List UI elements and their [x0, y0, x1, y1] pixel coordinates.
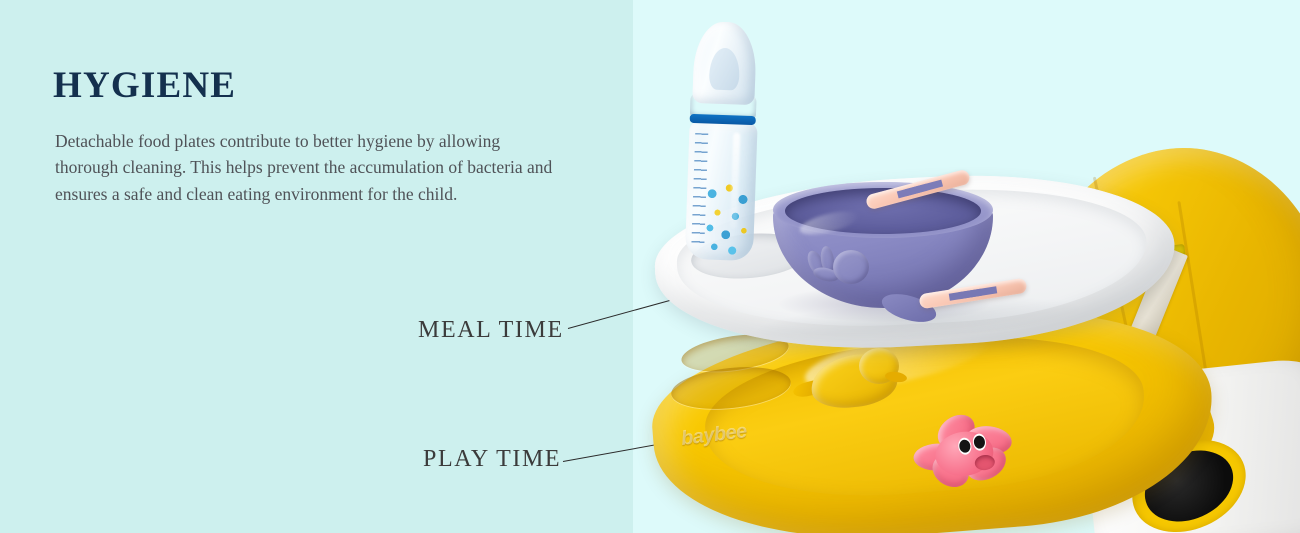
callout-label-meal-time: MEAL TIME — [418, 317, 564, 344]
starfish-toy — [906, 407, 1019, 495]
product-photo: baybee — [633, 0, 1300, 533]
product-feature-banner: HYGIENE Detachable food plates contribut… — [0, 0, 1300, 533]
baby-feeding-bottle — [677, 21, 769, 262]
feature-description: Detachable food plates contribute to bet… — [55, 128, 565, 208]
bowl-emboss-circle — [833, 250, 869, 284]
page-title: HYGIENE — [53, 66, 573, 107]
bottle-graphic-pattern — [701, 179, 754, 259]
callout-label-play-time: PLAY TIME — [423, 446, 561, 473]
feature-text-block: HYGIENE Detachable food plates contribut… — [53, 66, 573, 207]
